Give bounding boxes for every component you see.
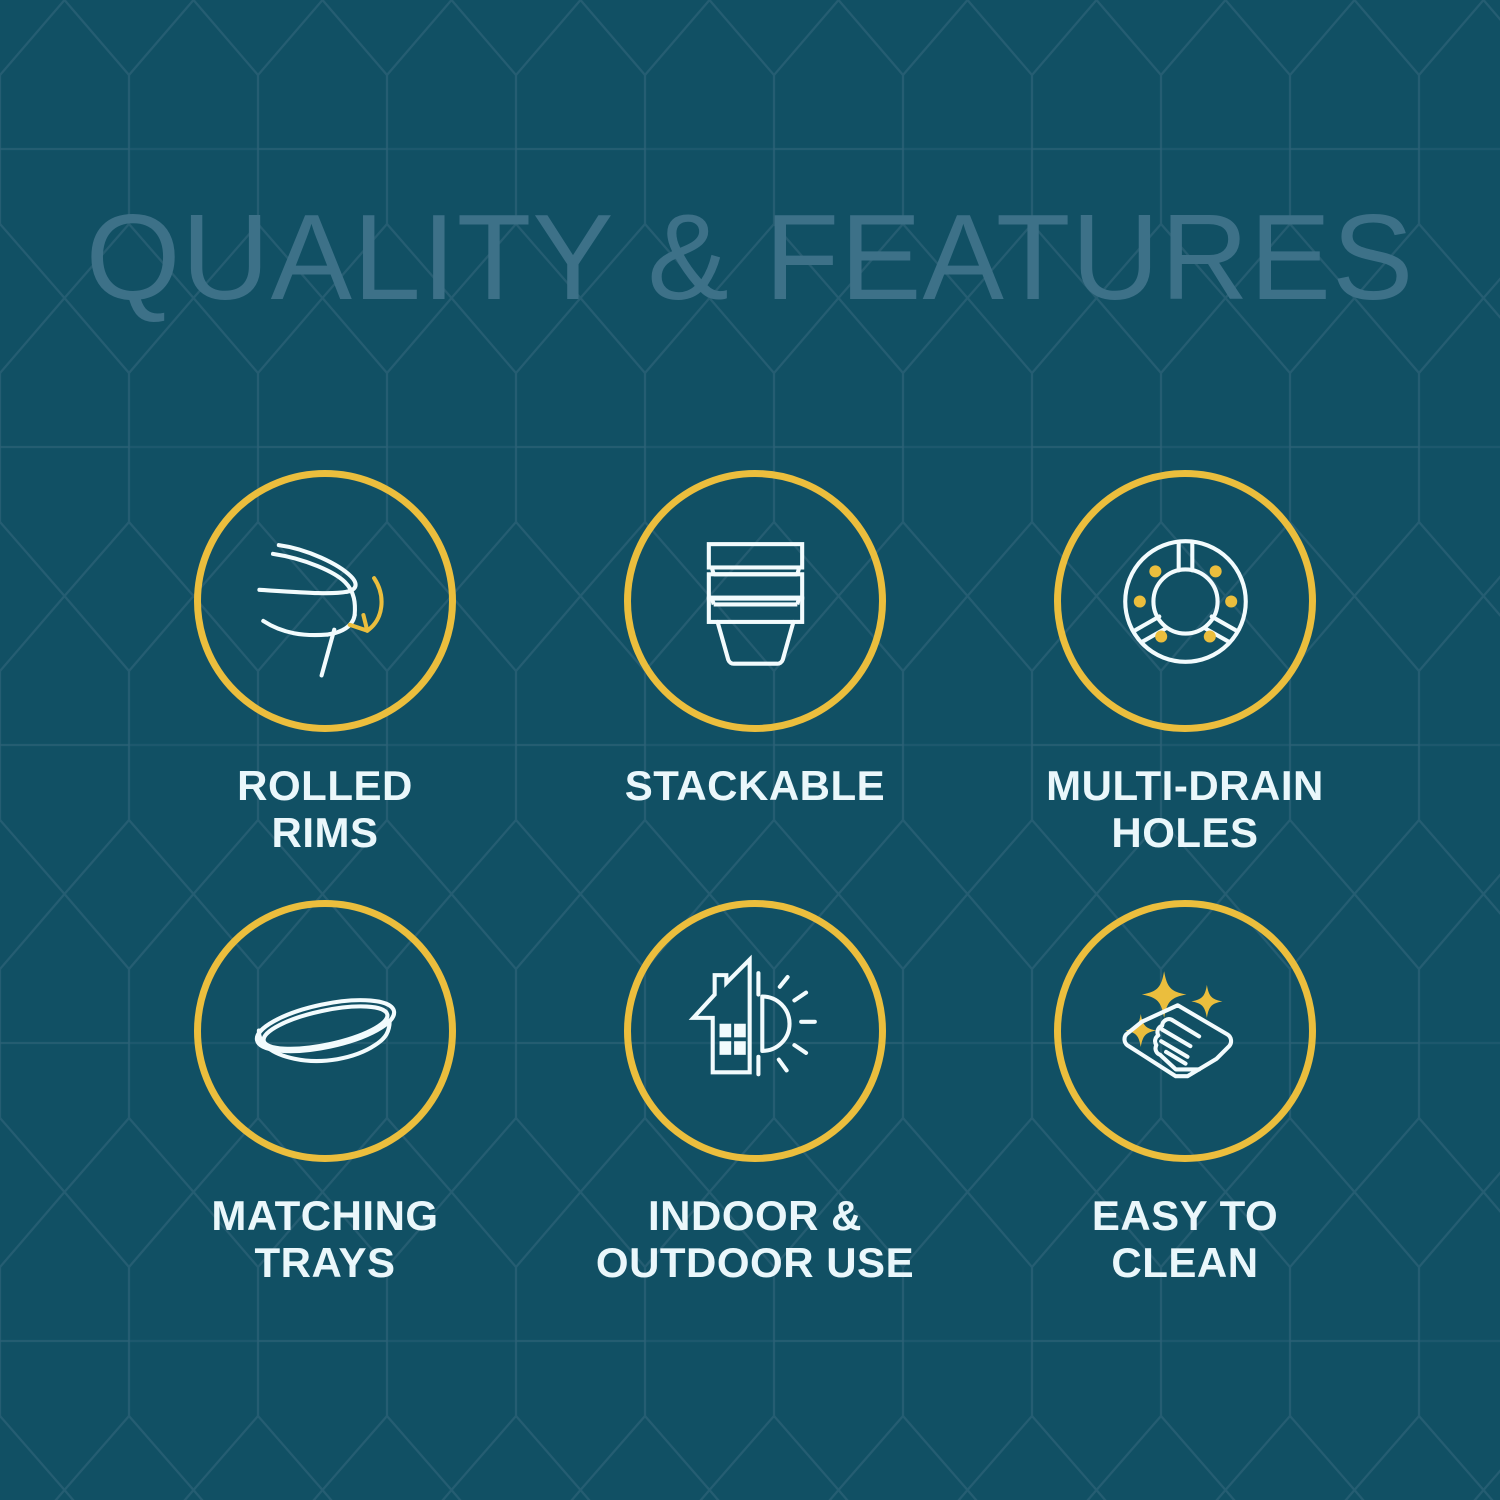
icon-ring-stackable: [624, 470, 886, 732]
page-title: QUALITY & FEATURES: [0, 196, 1500, 318]
feature-multi-drain-holes: MULTI-DRAIN HOLES: [970, 470, 1400, 900]
icon-ring-rolled-rims: [194, 470, 456, 732]
feature-label-multi-drain-holes: MULTI-DRAIN HOLES: [1046, 762, 1324, 856]
icon-ring-indoor-outdoor-use: [624, 900, 886, 1162]
rolled-rim-icon: [238, 514, 413, 689]
icon-ring-easy-to-clean: [1054, 900, 1316, 1162]
feature-easy-to-clean: EASY TO CLEAN: [970, 900, 1400, 1330]
feature-grid: ROLLED RIMS: [110, 470, 1400, 1330]
feature-label-stackable: STACKABLE: [625, 762, 885, 809]
infographic-page: QUALITY & FEATURES: [0, 0, 1500, 1500]
feature-label-rolled-rims: ROLLED RIMS: [237, 762, 413, 856]
stacked-pots-icon: [668, 514, 843, 689]
pot-base-drain-holes-icon: [1098, 514, 1273, 689]
icon-ring-matching-trays: [194, 900, 456, 1162]
feature-label-indoor-outdoor-use: INDOOR & OUTDOOR USE: [596, 1192, 914, 1286]
feature-label-matching-trays: MATCHING TRAYS: [211, 1192, 438, 1286]
feature-matching-trays: MATCHING TRAYS: [110, 900, 540, 1330]
hand-wiping-cloth-sparkles-icon: [1098, 944, 1273, 1119]
oval-tray-icon: [238, 944, 413, 1119]
house-and-sun-icon: [668, 944, 843, 1119]
feature-indoor-outdoor-use: INDOOR & OUTDOOR USE: [540, 900, 970, 1330]
feature-label-easy-to-clean: EASY TO CLEAN: [1092, 1192, 1278, 1286]
feature-stackable: STACKABLE: [540, 470, 970, 900]
icon-ring-multi-drain-holes: [1054, 470, 1316, 732]
feature-rolled-rims: ROLLED RIMS: [110, 470, 540, 900]
